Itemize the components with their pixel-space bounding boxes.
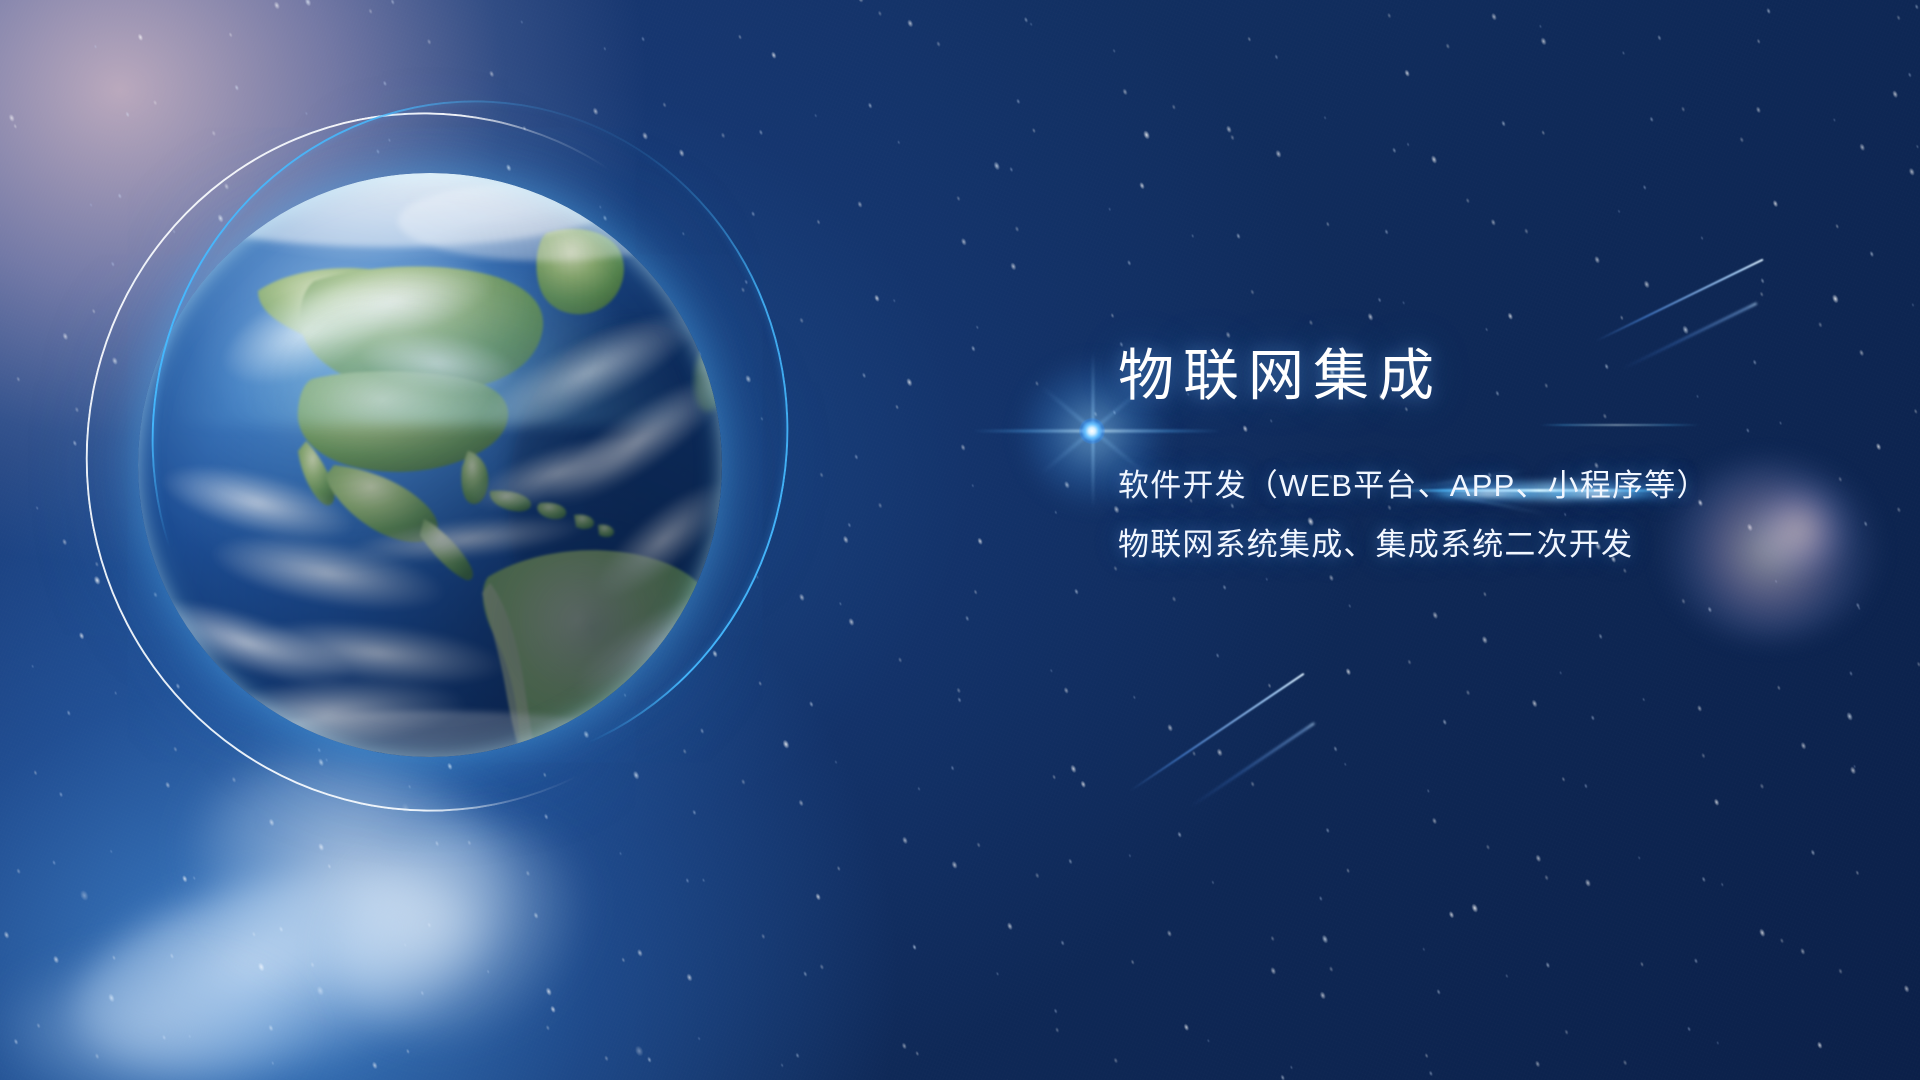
subtitle-line-1: 软件开发（WEB平台、APP、小程序等） — [1118, 470, 1818, 503]
earth-globe — [138, 173, 722, 757]
page-title: 物联网集成 — [1118, 348, 1818, 404]
meteor-lower-center-icon — [1129, 673, 1304, 792]
lens-flare-star-icon — [1079, 418, 1105, 444]
globe-map-svg — [138, 173, 722, 757]
globe-sphere — [138, 173, 722, 757]
cloud-wisp-c — [0, 960, 300, 1080]
cloud-wisp-d — [298, 781, 621, 1080]
subtitle-line-2: 物联网系统集成、集成系统二次开发 — [1118, 529, 1818, 562]
meteor-upper-right-icon — [1596, 259, 1764, 343]
hero-banner: 物联网集成 软件开发（WEB平台、APP、小程序等） 物联网系统集成、集成系统二… — [0, 0, 1920, 1080]
hero-text-block: 物联网集成 软件开发（WEB平台、APP、小程序等） 物联网系统集成、集成系统二… — [1118, 348, 1818, 561]
cloud-wisp-a — [55, 838, 505, 1080]
meteor-lower-center-2-icon — [1189, 722, 1314, 807]
lens-flare-star-ray-v — [1092, 352, 1095, 508]
